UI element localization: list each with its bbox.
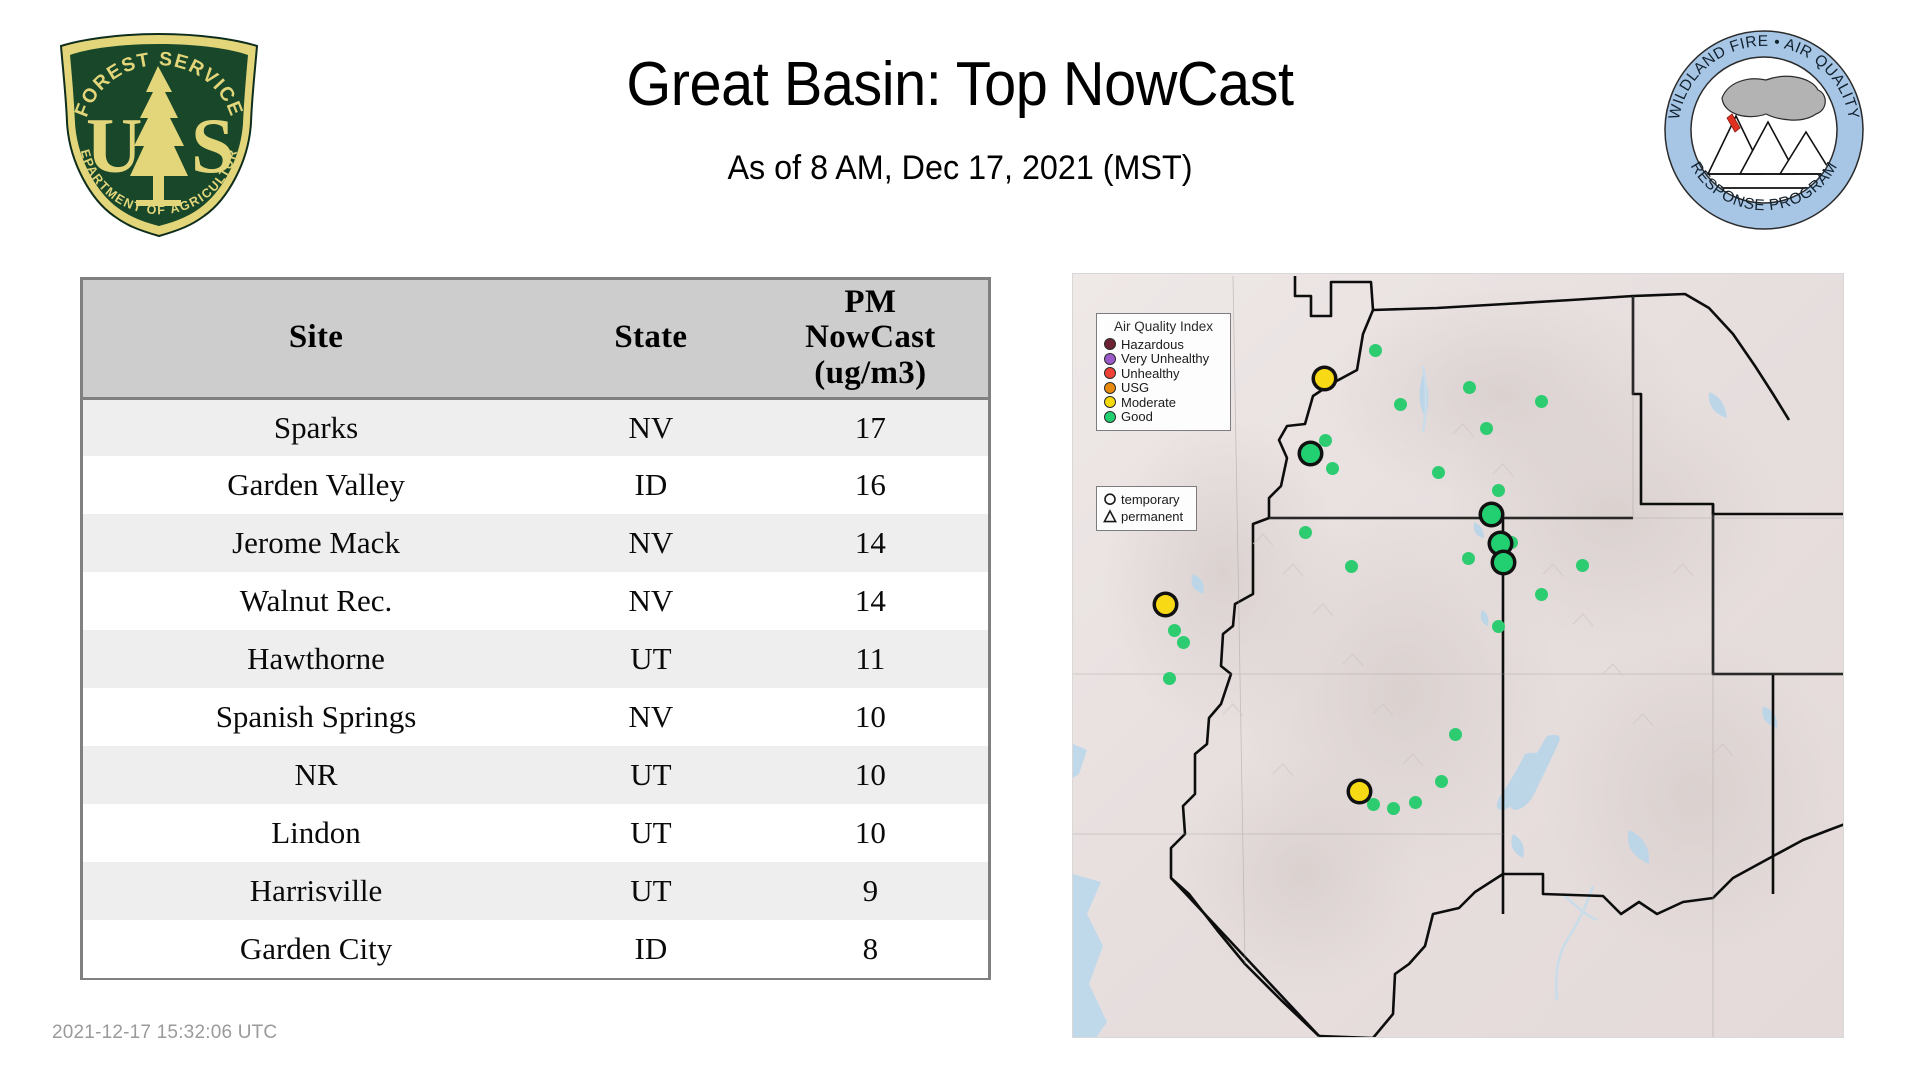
usfs-shield-logo: FOREST SERVICE U S DEPARTMENT OF AGRICUL… bbox=[52, 30, 267, 240]
monitor-marker-small[interactable] bbox=[1432, 466, 1445, 479]
table-header-row: Site State PM NowCast (ug/m3) bbox=[83, 280, 988, 398]
value-cell: 9 bbox=[753, 862, 988, 920]
page-subtitle: As of 8 AM, Dec 17, 2021 (MST) bbox=[333, 149, 1587, 188]
table-row[interactable]: HawthorneUT11 bbox=[83, 630, 988, 688]
monitor-marker-small[interactable] bbox=[1319, 434, 1332, 447]
aqi-swatch-hazardous bbox=[1104, 338, 1116, 350]
monitor-marker-small[interactable] bbox=[1463, 381, 1476, 394]
monitor-marker-small[interactable] bbox=[1535, 588, 1548, 601]
table-row[interactable]: Walnut Rec.NV14 bbox=[83, 572, 988, 630]
site-cell: Lindon bbox=[83, 804, 549, 862]
header-line: (ug/m3) bbox=[754, 356, 987, 392]
aqi-legend-label: Very Unhealthy bbox=[1121, 352, 1209, 365]
monitor-marker-small[interactable] bbox=[1576, 559, 1589, 572]
monitor-marker-highlight[interactable] bbox=[1298, 441, 1323, 466]
aqi-legend: Air Quality Index HazardousVery Unhealth… bbox=[1096, 313, 1231, 431]
monitor-marker-small[interactable] bbox=[1409, 796, 1422, 809]
header-line: PM bbox=[754, 285, 987, 321]
aqi-legend-label: USG bbox=[1121, 381, 1149, 394]
monitor-marker-small[interactable] bbox=[1535, 395, 1548, 408]
value-cell: 10 bbox=[753, 688, 988, 746]
header-line: Site bbox=[289, 319, 343, 355]
monitor-marker-small[interactable] bbox=[1168, 624, 1181, 637]
table-row[interactable]: SparksNV17 bbox=[83, 398, 988, 456]
aqi-legend-row: Very Unhealthy bbox=[1104, 352, 1223, 367]
aqi-legend-label: Good bbox=[1121, 410, 1153, 423]
triangle-glyph bbox=[1103, 509, 1117, 524]
monitor-marker-small[interactable] bbox=[1492, 484, 1505, 497]
site-cell: Garden City bbox=[83, 920, 549, 978]
monitor-marker-highlight[interactable] bbox=[1347, 779, 1372, 804]
header-line: State bbox=[614, 319, 687, 355]
header-line: NowCast bbox=[754, 320, 987, 356]
legend-row-permanent: permanent bbox=[1103, 508, 1191, 525]
legend-row-temporary: temporary bbox=[1103, 491, 1191, 508]
table-row[interactable]: NRUT10 bbox=[83, 746, 988, 804]
monitor-marker-small[interactable] bbox=[1394, 398, 1407, 411]
state-cell: UT bbox=[549, 862, 753, 920]
site-cell: NR bbox=[83, 746, 549, 804]
value-cell: 17 bbox=[753, 398, 988, 456]
column-header-site[interactable]: Site bbox=[83, 280, 549, 398]
aqi-legend-label: Hazardous bbox=[1121, 338, 1184, 351]
value-cell: 11 bbox=[753, 630, 988, 688]
state-cell: UT bbox=[549, 746, 753, 804]
table-row[interactable]: Garden CityID8 bbox=[83, 920, 988, 978]
value-cell: 14 bbox=[753, 572, 988, 630]
value-cell: 10 bbox=[753, 804, 988, 862]
column-header-state[interactable]: State bbox=[549, 280, 753, 398]
site-cell: Jerome Mack bbox=[83, 514, 549, 572]
page-title: Great Basin: Top NowCast bbox=[346, 52, 1574, 117]
site-cell: Garden Valley bbox=[83, 456, 549, 514]
table-row[interactable]: Jerome MackNV14 bbox=[83, 514, 988, 572]
aqi-swatch-very-unhealthy bbox=[1104, 353, 1116, 365]
monitor-marker-small[interactable] bbox=[1492, 620, 1505, 633]
monitor-marker-small[interactable] bbox=[1345, 560, 1358, 573]
monitor-marker-small[interactable] bbox=[1326, 462, 1339, 475]
monitor-marker-highlight[interactable] bbox=[1491, 550, 1516, 575]
aqi-legend-row: Unhealthy bbox=[1104, 366, 1223, 381]
legend-label-permanent: permanent bbox=[1121, 510, 1183, 523]
site-cell: Hawthorne bbox=[83, 630, 549, 688]
wfaqrp-seal-logo: WILDLAND FIRE • AIR QUALITY RESPONSE PRO… bbox=[1662, 28, 1867, 233]
monitor-marker-small[interactable] bbox=[1480, 422, 1493, 435]
nowcast-table: Site State PM NowCast (ug/m3) SparksNV17… bbox=[80, 277, 991, 980]
state-cell: ID bbox=[549, 920, 753, 978]
state-cell: NV bbox=[549, 572, 753, 630]
monitor-marker-small[interactable] bbox=[1449, 728, 1462, 741]
monitor-marker-highlight[interactable] bbox=[1479, 502, 1504, 527]
monitor-marker-highlight[interactable] bbox=[1312, 366, 1337, 391]
monitor-marker-small[interactable] bbox=[1462, 552, 1475, 565]
value-cell: 16 bbox=[753, 456, 988, 514]
aqi-legend-row: Hazardous bbox=[1104, 337, 1223, 352]
aqi-swatch-usg bbox=[1104, 382, 1116, 394]
aqi-swatch-good bbox=[1104, 411, 1116, 423]
value-cell: 14 bbox=[753, 514, 988, 572]
monitor-marker-highlight[interactable] bbox=[1153, 592, 1178, 617]
monitor-marker-small[interactable] bbox=[1387, 802, 1400, 815]
legend-label-temporary: temporary bbox=[1121, 493, 1180, 506]
value-cell: 10 bbox=[753, 746, 988, 804]
state-cell: UT bbox=[549, 804, 753, 862]
state-cell: ID bbox=[549, 456, 753, 514]
table-row[interactable]: LindonUT10 bbox=[83, 804, 988, 862]
state-cell: NV bbox=[549, 398, 753, 456]
table-row[interactable]: Spanish SpringsNV10 bbox=[83, 688, 988, 746]
aqi-legend-row: Good bbox=[1104, 410, 1223, 425]
air-quality-map[interactable]: Air Quality Index HazardousVery Unhealth… bbox=[1072, 273, 1844, 1038]
table-row[interactable]: Garden ValleyID16 bbox=[83, 456, 988, 514]
smoke-plume-icon bbox=[1722, 76, 1825, 120]
aqi-legend-title: Air Quality Index bbox=[1104, 319, 1223, 334]
monitor-type-legend: temporary permanent bbox=[1096, 486, 1197, 531]
aqi-legend-row: USG bbox=[1104, 381, 1223, 396]
state-cell: NV bbox=[549, 688, 753, 746]
state-cell: UT bbox=[549, 630, 753, 688]
column-header-pm-nowcast[interactable]: PM NowCast (ug/m3) bbox=[753, 280, 988, 398]
value-cell: 8 bbox=[753, 920, 988, 978]
aqi-legend-label: Unhealthy bbox=[1121, 367, 1180, 380]
monitor-marker-small[interactable] bbox=[1163, 672, 1176, 685]
state-cell: NV bbox=[549, 514, 753, 572]
aqi-swatch-unhealthy bbox=[1104, 367, 1116, 379]
site-cell: Sparks bbox=[83, 398, 549, 456]
site-cell: Harrisville bbox=[83, 862, 549, 920]
monitor-marker-small[interactable] bbox=[1177, 636, 1190, 649]
monitor-marker-small[interactable] bbox=[1299, 526, 1312, 539]
title-block: Great Basin: Top NowCast As of 8 AM, Dec… bbox=[300, 52, 1620, 188]
table-row[interactable]: HarrisvilleUT9 bbox=[83, 862, 988, 920]
monitor-marker-small[interactable] bbox=[1369, 344, 1382, 357]
circle-glyph bbox=[1103, 492, 1117, 507]
aqi-legend-label: Moderate bbox=[1121, 396, 1176, 409]
monitor-marker-small[interactable] bbox=[1435, 775, 1448, 788]
aqi-legend-row: Moderate bbox=[1104, 395, 1223, 410]
site-cell: Walnut Rec. bbox=[83, 572, 549, 630]
footer-timestamp: 2021-12-17 15:32:06 UTC bbox=[52, 1022, 277, 1044]
site-cell: Spanish Springs bbox=[83, 688, 549, 746]
aqi-swatch-moderate bbox=[1104, 396, 1116, 408]
